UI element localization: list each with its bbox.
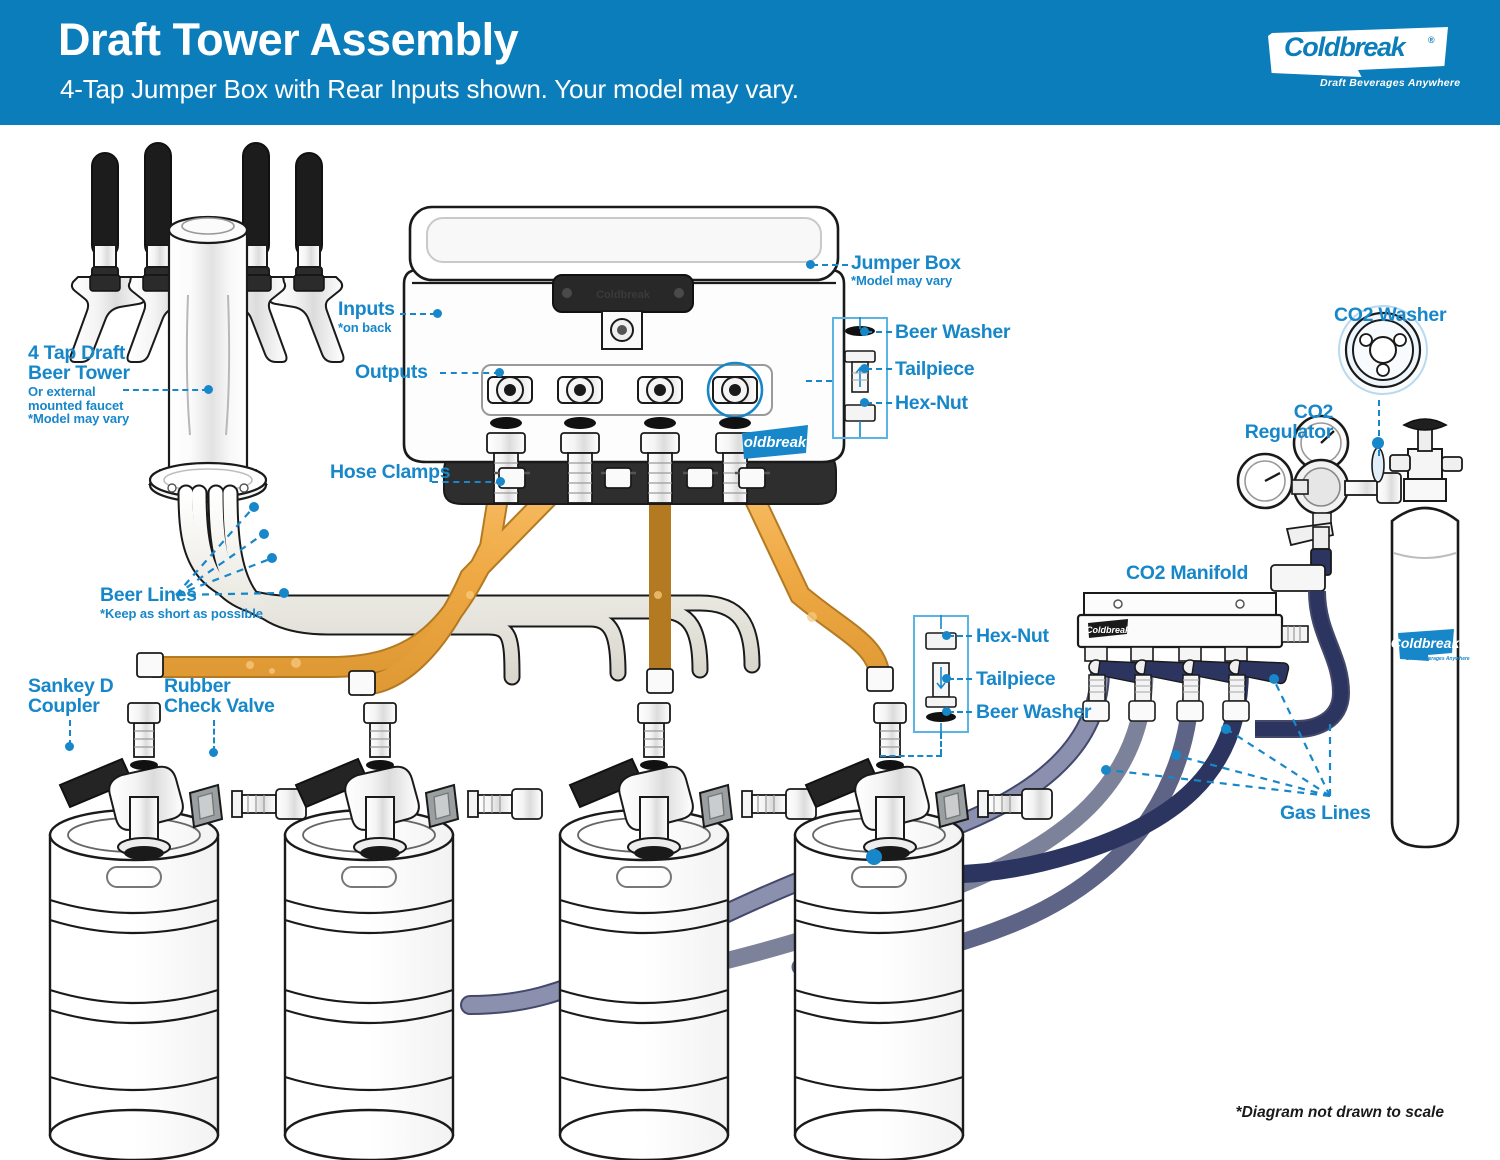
leader-gas-detail-down xyxy=(940,733,942,755)
leader-jumper-box xyxy=(812,264,848,266)
svg-text:Coldbreak: Coldbreak xyxy=(1391,635,1461,651)
output-port-2 xyxy=(558,377,602,403)
anchor-dot-beer-tower xyxy=(204,385,213,394)
detail-label-beer-washer: Beer Washer xyxy=(895,322,1010,342)
anchor-dot-beer-washer xyxy=(860,327,869,336)
anchor-dot-gas-beer-washer xyxy=(942,707,951,716)
output-port-3 xyxy=(638,377,682,403)
tower-column xyxy=(169,230,247,470)
leader-gas-tailpiece xyxy=(948,678,972,680)
page-subtitle: 4-Tap Jumper Box with Rear Inputs shown.… xyxy=(60,76,799,102)
svg-text:oldbreak: oldbreak xyxy=(744,434,807,451)
leader-inputs xyxy=(400,313,436,315)
tank-handwheel xyxy=(1404,419,1446,430)
callout-sankey-coupler-title: Sankey D Coupler xyxy=(28,676,113,717)
page-title: Draft Tower Assembly xyxy=(58,17,518,62)
callout-hose-clamps-title: Hose Clamps xyxy=(330,462,450,482)
callout-check-valve-title: Rubber Check Valve xyxy=(164,676,275,717)
callout-jumper-box-title: Jumper Box xyxy=(851,253,961,273)
anchor-dot-check-valve xyxy=(209,748,218,757)
leader-fan-gas-lines xyxy=(1060,660,1350,810)
callout-co2-washer-title: CO2 Washer xyxy=(1334,305,1446,325)
faucet-collar-1 xyxy=(90,275,120,291)
leader-detail-to-box xyxy=(806,380,832,382)
manifold-bracket xyxy=(1084,593,1276,615)
leader-beer-washer xyxy=(866,331,892,333)
keg-1 xyxy=(50,810,218,1160)
anchor-dot-sankey-coupler xyxy=(65,742,74,751)
tower-top-cap xyxy=(169,217,247,243)
leader-outputs xyxy=(440,372,500,374)
callout-outputs-title: Outputs xyxy=(355,362,428,382)
logo-wordmark: Coldbreak xyxy=(1284,34,1404,61)
leader-fan-beer-lines xyxy=(170,495,330,605)
hex-nut-icon xyxy=(128,703,160,723)
callout-jumper-box-note: *Model may vary xyxy=(851,274,952,288)
callout-beer-tower-title: 4 Tap Draft Beer Tower xyxy=(28,343,130,384)
leader-gas-beer-washer xyxy=(948,711,972,713)
detail-label-gas-hex-nut: Hex-Nut xyxy=(976,626,1049,646)
leader-gas-detail-left xyxy=(880,755,942,757)
hex-nut-icon xyxy=(845,405,875,421)
logo-tagline: Draft Beverages Anywhere xyxy=(1320,77,1460,89)
diagram-page: Draft Tower Assembly 4-Tap Jumper Box wi… xyxy=(0,0,1500,1160)
detail-label-hex-nut: Hex-Nut xyxy=(895,393,968,413)
output-port-1 xyxy=(488,377,532,403)
anchor-dot-outputs xyxy=(495,368,504,377)
leader-beer-tower xyxy=(123,389,208,391)
page-header: Draft Tower Assembly 4-Tap Jumper Box wi… xyxy=(0,0,1500,125)
keg-2 xyxy=(285,810,453,1160)
callout-inputs-title: Inputs xyxy=(338,299,395,319)
hex-nut-icon xyxy=(487,433,525,453)
logo-word-break: break xyxy=(1339,32,1404,62)
leader-tailpiece xyxy=(866,368,892,370)
co2-tank: Coldbreak Draft Beverages Anywhere xyxy=(1390,419,1470,847)
anchor-dot-gas-tailpiece xyxy=(942,674,951,683)
anchor-dot-gas-hex-nut xyxy=(942,631,951,640)
svg-text:Draft Beverages Anywhere: Draft Beverages Anywhere xyxy=(1406,656,1470,662)
anchor-dot-jumper-box xyxy=(806,260,815,269)
detail-label-gas-tailpiece: Tailpiece xyxy=(976,669,1055,689)
beer-washer-icon xyxy=(130,760,158,770)
detail-label-tailpiece: Tailpiece xyxy=(895,359,974,379)
callout-beer-tower-note: Or external mounted faucet *Model may va… xyxy=(28,385,129,426)
callout-inputs-note: *on back xyxy=(338,321,391,335)
leader-hex-nut xyxy=(866,402,892,404)
assembly-illustration: Coldbreak xyxy=(0,125,1500,1160)
leader-gas-hex-nut xyxy=(948,635,972,637)
callout-anchor-dot xyxy=(866,849,882,865)
faucet-handle-1 xyxy=(92,153,118,279)
draft-beer-tower xyxy=(71,143,344,502)
tank-valve-body xyxy=(1408,449,1442,479)
faucet-handle-4 xyxy=(296,153,322,279)
gas-input-detail-parts xyxy=(913,615,969,733)
beer-washer-icon xyxy=(490,417,522,429)
logo-word-cold: Cold xyxy=(1284,32,1339,62)
coldbreak-logo: Coldbreak ® Draft Beverages Anywhere xyxy=(1268,27,1448,97)
logo-trademark-icon: ® xyxy=(1428,35,1435,45)
callout-beer-lines-note: *Keep as short as possible xyxy=(100,607,263,621)
footer-note: *Diagram not drawn to scale xyxy=(1236,1104,1444,1122)
tailpiece-icon xyxy=(134,723,154,757)
svg-text:Coldbreak: Coldbreak xyxy=(596,289,651,301)
anchor-dot-inputs xyxy=(433,309,442,318)
rubber-check-valve xyxy=(190,785,222,827)
cooler-lid-inset xyxy=(427,218,821,262)
leader-hose-clamps xyxy=(432,481,502,483)
anchor-dot-hose-clamps xyxy=(496,477,505,486)
kegs xyxy=(50,810,963,1160)
callout-co2-manifold-title: CO2 Manifold xyxy=(1126,563,1248,583)
keg-3 xyxy=(560,810,728,1160)
detail-label-gas-beer-washer: Beer Washer xyxy=(976,702,1091,722)
faucet-collar-4 xyxy=(294,275,324,291)
anchor-dot-tailpiece xyxy=(860,364,869,373)
beer-output-detail-parts xyxy=(832,317,888,439)
svg-text:Coldbreak: Coldbreak xyxy=(1086,625,1131,635)
leader-co2-washer xyxy=(1378,400,1380,456)
beer-washer-icon xyxy=(926,712,956,722)
callout-co2-regulator-title: CO2 Regulator xyxy=(1243,402,1333,443)
anchor-dot-hex-nut xyxy=(860,398,869,407)
faucet-handle-2 xyxy=(145,143,171,279)
